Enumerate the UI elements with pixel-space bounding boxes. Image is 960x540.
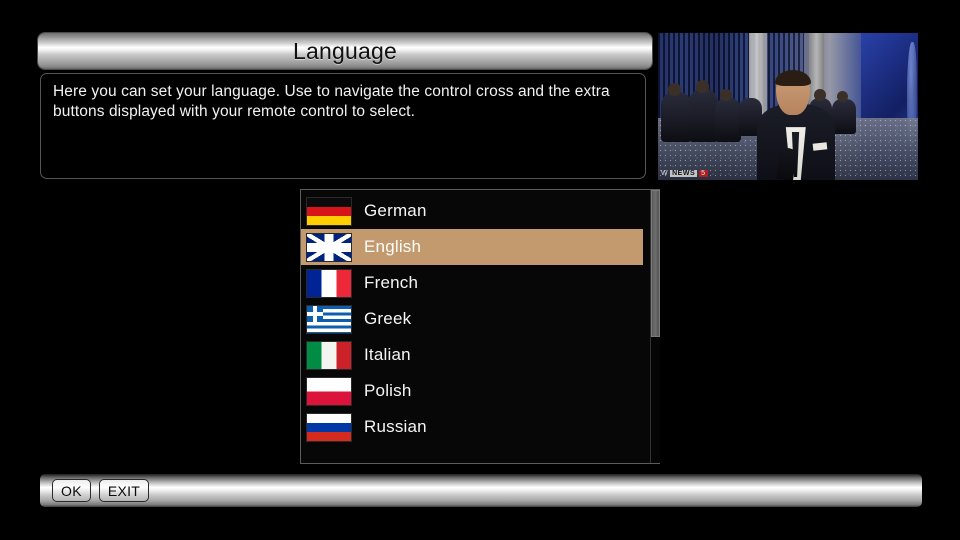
flag-gb-icon (306, 233, 352, 262)
language-item-italian[interactable]: Italian (301, 337, 643, 373)
footer-softkey-bar: OKEXIT (40, 474, 922, 507)
list-scrollbar-thumb[interactable] (651, 190, 660, 337)
language-item-polish[interactable]: Polish (301, 373, 643, 409)
flag-it-icon (306, 341, 352, 370)
flag-gb-cross (307, 234, 351, 261)
video-crowd-head (720, 89, 732, 101)
language-item-label: Russian (364, 417, 427, 437)
watermark-text: NEWS (670, 170, 697, 177)
flag-pl-icon (306, 377, 352, 406)
flag-gr-icon (306, 305, 352, 334)
watermark-prefix: W (661, 170, 668, 177)
description-text: Here you can set your language. Use to n… (53, 82, 633, 122)
language-item-english[interactable]: English (301, 229, 643, 265)
flag-gb-diagonals (307, 234, 351, 261)
video-crowd-figure (832, 99, 855, 134)
broadcaster-watermark: W NEWS 5 (661, 170, 708, 177)
video-crowd-head (814, 89, 826, 101)
language-item-greek[interactable]: Greek (301, 301, 643, 337)
video-crowd-figure (715, 98, 741, 142)
language-item-label: Polish (364, 381, 412, 401)
video-crowd-figure (689, 89, 718, 142)
description-panel: Here you can set your language. Use to n… (40, 73, 646, 179)
language-item-label: Italian (364, 345, 411, 365)
language-item-label: English (364, 237, 421, 257)
page-title: Language (293, 38, 397, 65)
language-item-label: French (364, 273, 418, 293)
exit-button[interactable]: EXIT (99, 479, 149, 502)
flag-de-icon (306, 197, 352, 226)
tv-settings-screen: Language Here you can set your language.… (0, 0, 960, 540)
flag-ru-icon (306, 413, 352, 442)
watermark-suffix: 5 (699, 170, 707, 177)
video-preview[interactable]: W NEWS 5 (658, 33, 918, 180)
language-item-russian[interactable]: Russian (301, 409, 643, 445)
flag-fr-icon (306, 269, 352, 298)
language-item-german[interactable]: German (301, 193, 643, 229)
video-microphone (776, 147, 797, 180)
language-item-label: Greek (364, 309, 411, 329)
ok-button[interactable]: OK (52, 479, 91, 502)
language-list-panel[interactable]: GermanEnglishFrenchGreekItalianPolishRus… (300, 189, 660, 464)
language-item-french[interactable]: French (301, 265, 643, 301)
video-crowd-figure (661, 92, 692, 142)
video-crowd-head (696, 80, 709, 93)
language-item-label: German (364, 201, 427, 221)
language-list: GermanEnglishFrenchGreekItalianPolishRus… (301, 193, 643, 445)
page-title-bar: Language (38, 33, 652, 69)
list-scrollbar-track[interactable] (650, 190, 660, 463)
